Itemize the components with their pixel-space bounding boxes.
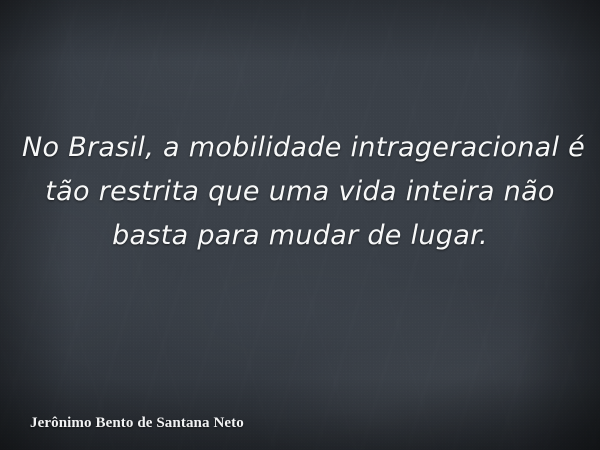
quote-author: Jerônimo Bento de Santana Neto	[30, 414, 244, 432]
quote-line-3: basta para mudar de lugar.	[22, 214, 578, 258]
quote-line-1: No Brasil, a mobilidade intrageracional …	[22, 126, 578, 170]
quote-text-block: No Brasil, a mobilidade intrageracional …	[0, 126, 600, 258]
card-content: No Brasil, a mobilidade intrageracional …	[0, 0, 600, 450]
quote-line-2: tão restrita que uma vida inteira não	[22, 170, 578, 214]
quote-card: No Brasil, a mobilidade intrageracional …	[0, 0, 600, 450]
